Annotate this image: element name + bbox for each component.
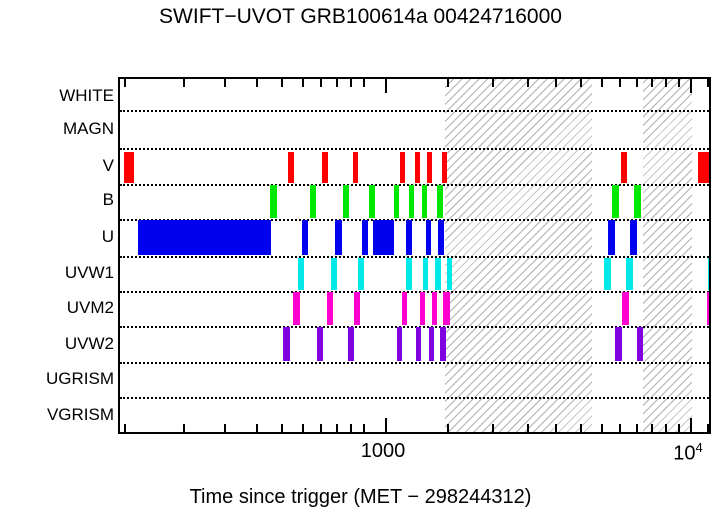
plot-inner bbox=[120, 79, 709, 432]
exposure-bar-b bbox=[310, 185, 316, 218]
exposure-bar-b bbox=[394, 185, 399, 218]
row-separator bbox=[120, 110, 709, 112]
x-axis-tick-top bbox=[281, 79, 283, 87]
exposure-bar-uvw1 bbox=[298, 258, 304, 290]
exposure-bar-uvm2 bbox=[707, 292, 711, 325]
x-axis-tick-top bbox=[363, 79, 365, 87]
exposure-bar-v bbox=[400, 152, 405, 183]
exposure-bar-b bbox=[343, 185, 349, 218]
x-axis-tick-top bbox=[636, 79, 638, 87]
exposure-bar-v bbox=[698, 152, 709, 183]
exposure-bar-v bbox=[353, 152, 358, 183]
x-axis-tick-top bbox=[183, 79, 185, 87]
exposure-bar-u bbox=[335, 220, 342, 255]
exposure-bar-uvw2 bbox=[397, 327, 402, 361]
x-axis-tick-label: 1000 bbox=[361, 440, 406, 463]
x-axis-tick-label: 104 bbox=[673, 440, 702, 466]
x-axis-tick-top bbox=[580, 79, 582, 87]
exposure-bar-b bbox=[422, 185, 427, 218]
exposure-bar-uvw1 bbox=[708, 258, 711, 290]
x-axis-tick-top bbox=[527, 79, 529, 87]
y-axis-label-v: V bbox=[0, 156, 114, 176]
x-axis-tick bbox=[601, 424, 603, 432]
exposure-bar-uvw2 bbox=[283, 327, 290, 361]
x-axis-tick-top bbox=[492, 79, 494, 87]
exposure-bar-u bbox=[608, 220, 615, 255]
exposure-bar-v bbox=[415, 152, 420, 183]
x-axis-tick bbox=[363, 424, 365, 432]
x-axis-tick-top bbox=[385, 79, 387, 93]
exposure-bar-uvw2 bbox=[615, 327, 622, 361]
x-axis-tick bbox=[555, 424, 557, 432]
exposure-bar-b bbox=[369, 185, 375, 218]
exposure-bar-v bbox=[427, 152, 432, 183]
x-axis-tick bbox=[619, 424, 621, 432]
x-axis-tick-top bbox=[707, 79, 709, 87]
exposure-bar-v bbox=[621, 152, 627, 183]
exposure-bar-b bbox=[409, 185, 414, 218]
x-axis-tick bbox=[636, 424, 638, 432]
exposure-bar-uvw1 bbox=[423, 258, 428, 290]
x-axis-tick bbox=[350, 424, 352, 432]
exposure-bar-uvm2 bbox=[622, 292, 629, 325]
x-axis-tick-top bbox=[224, 79, 226, 87]
x-axis-tick bbox=[302, 424, 304, 432]
exposure-bar-b bbox=[612, 185, 619, 218]
exposure-bar-v bbox=[124, 152, 134, 183]
x-axis-tick-top bbox=[678, 79, 680, 87]
x-axis-tick bbox=[447, 424, 449, 432]
row-separator bbox=[120, 291, 709, 293]
exposure-bar-uvm2 bbox=[293, 292, 300, 325]
x-axis-tick-top bbox=[690, 79, 692, 93]
x-axis-tick bbox=[707, 424, 709, 432]
y-axis-label-uvw2: UVW2 bbox=[0, 334, 114, 354]
exposure-bar-uvw1 bbox=[358, 258, 364, 290]
chart-title: SWIFT−UVOT GRB100614a 00424716000 bbox=[0, 5, 721, 29]
exposure-bar-uvw2 bbox=[637, 327, 643, 361]
y-axis-label-white: WHITE bbox=[0, 86, 114, 106]
exposure-bar-u bbox=[138, 220, 271, 255]
exposure-bar-u bbox=[302, 220, 308, 255]
row-separator bbox=[120, 184, 709, 186]
x-axis-tick-top bbox=[302, 79, 304, 87]
x-axis-tick-top bbox=[350, 79, 352, 87]
x-axis-tick bbox=[256, 424, 258, 432]
x-axis-tick-top bbox=[555, 79, 557, 87]
exposure-bar-u bbox=[373, 220, 394, 255]
y-axis-label-b: B bbox=[0, 190, 114, 210]
exposure-bar-b bbox=[437, 185, 443, 218]
x-axis-tick-top bbox=[256, 79, 258, 87]
exposure-bar-uvm2 bbox=[354, 292, 360, 325]
x-axis-tick bbox=[124, 424, 126, 432]
y-axis-label-ugrism: UGRISM bbox=[0, 369, 114, 389]
exposure-bar-uvw2 bbox=[440, 327, 446, 361]
x-axis-tick bbox=[690, 418, 692, 432]
x-axis-tick bbox=[492, 424, 494, 432]
x-axis-tick bbox=[385, 418, 387, 432]
chart-root: SWIFT−UVOT GRB100614a 00424716000 WHITEM… bbox=[0, 0, 721, 522]
exposure-bar-uvm2 bbox=[432, 292, 437, 325]
x-axis-tick bbox=[665, 424, 667, 432]
exposure-bar-u bbox=[426, 220, 431, 255]
exposure-bar-uvw1 bbox=[604, 258, 611, 290]
x-axis-tick-top bbox=[124, 79, 126, 87]
y-axis-label-magn: MAGN bbox=[0, 119, 114, 139]
x-axis-tick-top bbox=[651, 79, 653, 87]
exposure-bar-u bbox=[438, 220, 444, 255]
exposure-bar-u bbox=[406, 220, 412, 255]
x-axis-tick-top bbox=[665, 79, 667, 87]
exposure-bar-b bbox=[270, 185, 277, 218]
exposure-bar-uvw1 bbox=[626, 258, 633, 290]
exposure-bar-uvw2 bbox=[317, 327, 323, 361]
x-axis-title: Time since trigger (MET − 298244312) bbox=[0, 486, 721, 509]
x-axis-tick bbox=[651, 424, 653, 432]
exposure-bar-uvw2 bbox=[429, 327, 434, 361]
x-axis-tick bbox=[580, 424, 582, 432]
exposure-bar-u bbox=[630, 220, 637, 255]
x-axis-tick bbox=[183, 424, 185, 432]
y-axis-label-uvw1: UVW1 bbox=[0, 263, 114, 283]
x-axis-tick-top bbox=[336, 79, 338, 87]
exposure-bar-uvw1 bbox=[447, 258, 452, 290]
exposure-bar-uvw2 bbox=[416, 327, 421, 361]
y-axis-label-vgrism: VGRISM bbox=[0, 405, 114, 425]
exposure-bar-v bbox=[322, 152, 328, 183]
row-separator bbox=[120, 362, 709, 364]
row-separator bbox=[120, 148, 709, 150]
x-axis-tick bbox=[336, 424, 338, 432]
exposure-bar-u bbox=[362, 220, 368, 255]
exposure-bar-uvw1 bbox=[331, 258, 337, 290]
exposure-bar-uvm2 bbox=[420, 292, 425, 325]
plot-area bbox=[118, 77, 711, 434]
x-axis-tick-top bbox=[601, 79, 603, 87]
exposure-bar-uvw1 bbox=[406, 258, 412, 290]
exposure-bar-uvm2 bbox=[402, 292, 407, 325]
y-axis-label-uvm2: UVM2 bbox=[0, 298, 114, 318]
row-separator bbox=[120, 397, 709, 399]
x-axis-tick-top bbox=[619, 79, 621, 87]
exposure-bar-b bbox=[634, 185, 641, 218]
row-separator bbox=[120, 256, 709, 258]
x-axis-tick bbox=[527, 424, 529, 432]
exposure-bar-uvw1 bbox=[435, 258, 441, 290]
x-axis-tick bbox=[678, 424, 680, 432]
exposure-bar-v bbox=[442, 152, 447, 183]
x-axis-tick bbox=[224, 424, 226, 432]
x-axis-tick-top bbox=[320, 79, 322, 87]
x-axis-tick bbox=[320, 424, 322, 432]
exposure-bar-uvm2 bbox=[327, 292, 333, 325]
x-axis-tick bbox=[281, 424, 283, 432]
exposure-bar-uvw2 bbox=[348, 327, 354, 361]
exposure-bar-v bbox=[288, 152, 294, 183]
y-axis-label-u: U bbox=[0, 227, 114, 247]
x-axis-tick-top bbox=[447, 79, 449, 87]
exposure-bar-uvm2 bbox=[443, 292, 450, 325]
